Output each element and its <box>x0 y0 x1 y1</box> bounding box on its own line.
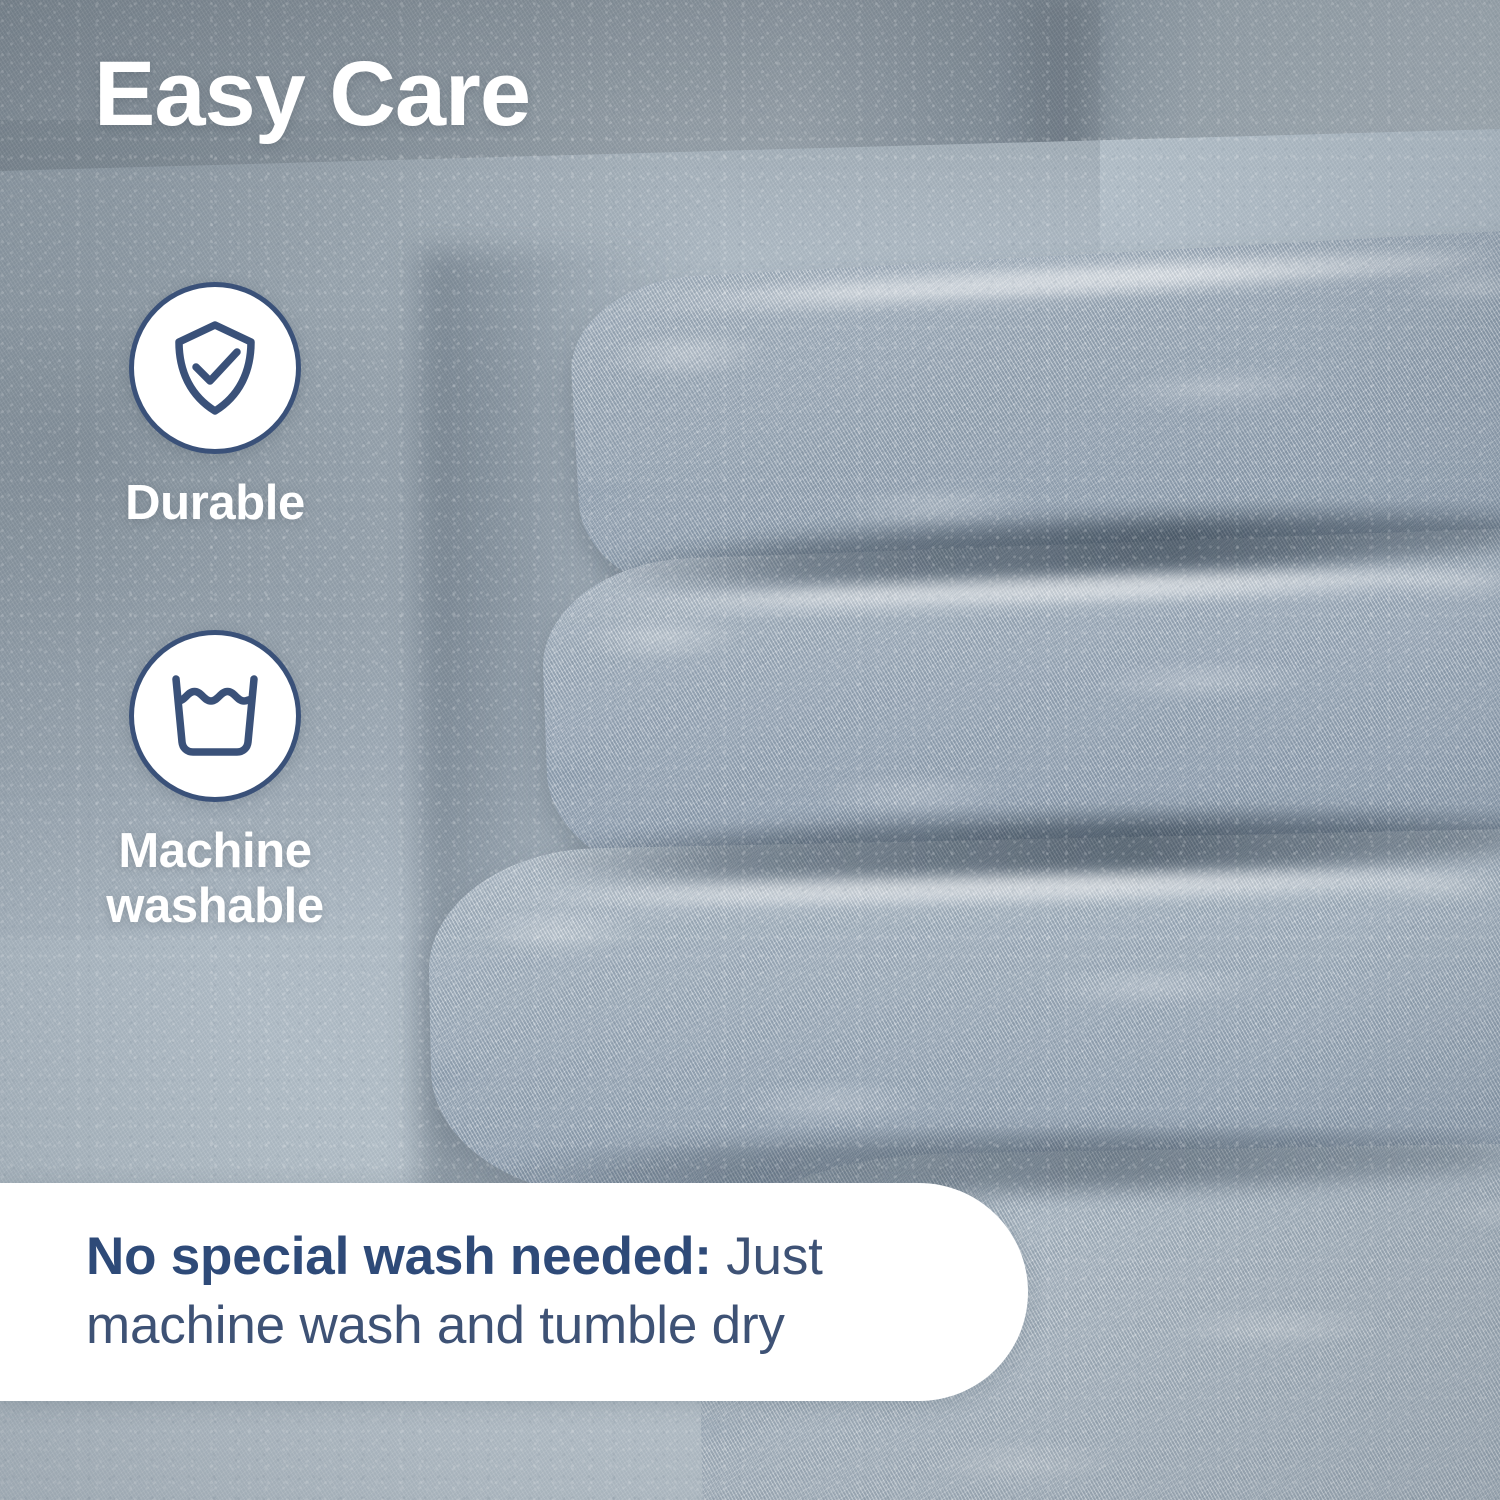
feature-label: Durable <box>0 476 430 531</box>
feature-durable: Durable <box>0 282 430 531</box>
feature-label-line-1: Machine <box>0 824 430 879</box>
feature-label-line-2: washable <box>0 879 430 934</box>
caption-text: No special wash needed: Just machine was… <box>0 1223 1028 1361</box>
feature-badge <box>129 630 301 802</box>
feature-badge <box>129 282 301 454</box>
feature-label: Machine washable <box>0 824 430 934</box>
machine-wash-tub-icon <box>163 668 267 764</box>
shield-check-icon <box>163 316 267 420</box>
feature-machine-washable: Machine washable <box>0 630 430 934</box>
product-infographic: Easy Care Durable <box>0 0 1500 1500</box>
page-title: Easy Care <box>94 44 530 145</box>
caption-banner: No special wash needed: Just machine was… <box>0 1183 1028 1401</box>
caption-lead: No special wash needed: <box>86 1227 712 1286</box>
overlay-content: Easy Care Durable <box>0 0 1500 1500</box>
